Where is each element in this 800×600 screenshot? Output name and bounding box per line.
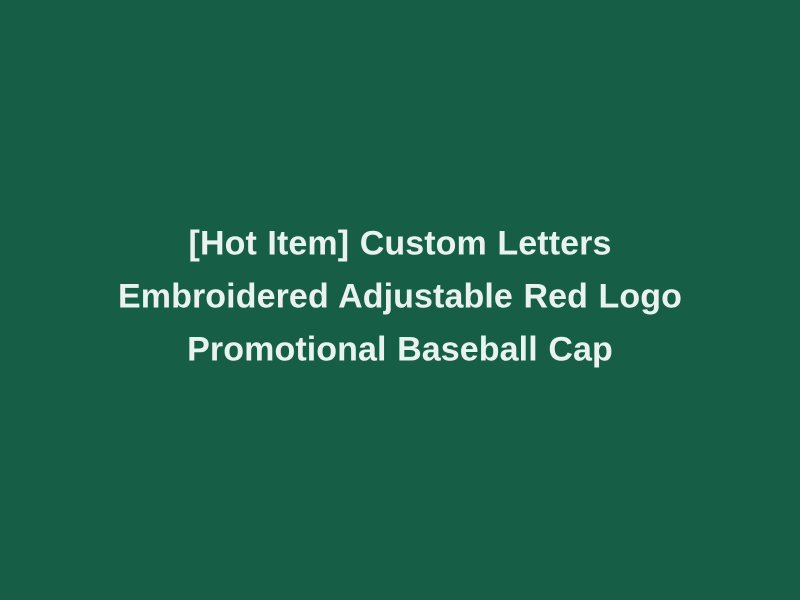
title-block: [Hot Item] Custom Letters Embroidered Ad… <box>0 218 800 377</box>
page-title: [Hot Item] Custom Letters Embroidered Ad… <box>80 218 720 377</box>
title-card-canvas: [Hot Item] Custom Letters Embroidered Ad… <box>0 0 800 600</box>
